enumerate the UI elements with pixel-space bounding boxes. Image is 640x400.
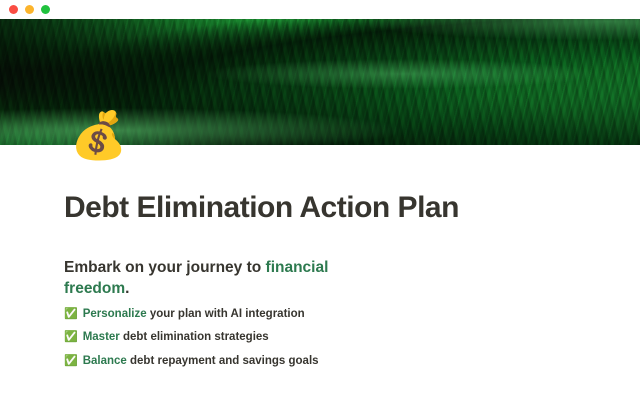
list-item-lead: Balance <box>83 355 127 367</box>
check-mark-icon: ✅ <box>64 330 78 344</box>
list-item-lead: Personalize <box>83 308 147 320</box>
check-mark-icon: ✅ <box>64 307 78 321</box>
list-item-text: debt elimination strategies <box>120 331 269 343</box>
list-item[interactable]: ✅ Personalize your plan with AI integrat… <box>64 307 484 321</box>
list-item-lead: Master <box>83 331 120 343</box>
app-window: 💰 Debt Elimination Action Plan Embark on… <box>0 0 640 400</box>
list-item[interactable]: ✅ Master debt elimination strategies <box>64 330 484 344</box>
page-title[interactable]: Debt Elimination Action Plan <box>64 191 459 225</box>
maximize-window-button[interactable] <box>41 5 50 14</box>
lede-text-plain-after: . <box>125 280 129 297</box>
window-title-bar <box>0 0 640 19</box>
close-window-button[interactable] <box>9 5 18 14</box>
list-item[interactable]: ✅ Balance debt repayment and savings goa… <box>64 354 484 368</box>
minimize-window-button[interactable] <box>25 5 34 14</box>
list-item-text: your plan with AI integration <box>147 308 305 320</box>
money-bag-icon[interactable]: 💰 <box>70 112 127 158</box>
list-item-text: debt repayment and savings goals <box>127 355 319 367</box>
page-lede[interactable]: Embark on your journey to financial free… <box>64 258 329 299</box>
lede-text-plain-before: Embark on your journey to <box>64 259 266 276</box>
check-mark-icon: ✅ <box>64 354 78 368</box>
page-body: 💰 Debt Elimination Action Plan Embark on… <box>0 145 640 400</box>
checklist: ✅ Personalize your plan with AI integrat… <box>64 307 484 377</box>
